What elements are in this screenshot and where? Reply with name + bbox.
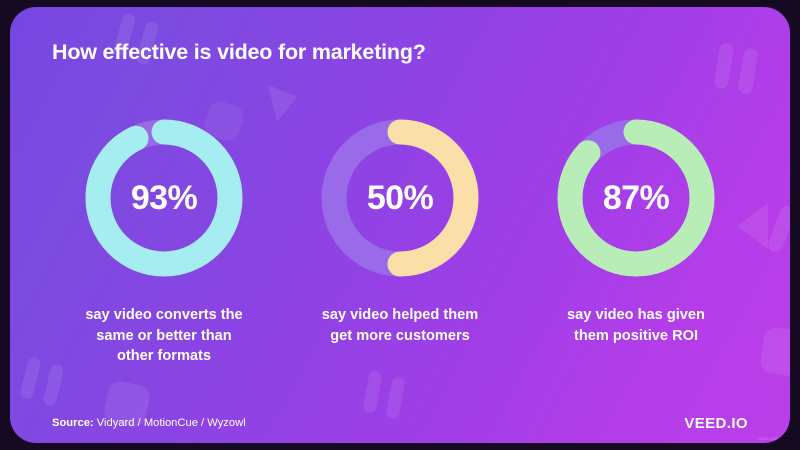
caption-line: them positive ROI <box>567 326 705 347</box>
donut-chart-more-customers: 50% <box>317 115 483 281</box>
stats-row: 93% say video converts the same or bette… <box>20 115 780 367</box>
stat-caption: say video helped them get more customers <box>322 305 479 346</box>
stat-caption: say video has given them positive ROI <box>567 305 705 346</box>
caption-line: say video has given <box>567 305 705 326</box>
source-value: Vidyard / MotionCue / Wyzowl <box>97 417 246 429</box>
donut-chart-converts-same-or-better: 93% <box>81 115 247 281</box>
source-attribution: Source: Vidyard / MotionCue / Wyzowl <box>52 417 246 429</box>
stat-card-more-customers: 50% say video helped them get more custo… <box>284 115 516 367</box>
pause-bar-icon <box>737 47 758 95</box>
caption-line: say video converts the <box>85 305 242 326</box>
pause-bar-icon <box>362 370 382 414</box>
donut-value-label: 87% <box>553 115 719 281</box>
infographic-root: How effective is video for marketing? 93… <box>0 0 800 450</box>
gradient-card: How effective is video for marketing? 93… <box>10 7 790 443</box>
caption-line: same or better than <box>85 326 242 347</box>
donut-chart-positive-roi: 87% <box>553 115 719 281</box>
donut-value-label: 50% <box>317 115 483 281</box>
pause-bar-icon <box>713 42 734 90</box>
stat-card-converts-same-or-better: 93% say video converts the same or bette… <box>48 115 280 367</box>
pause-bar-icon <box>42 363 65 407</box>
caption-line: say video helped them <box>322 305 479 326</box>
caption-line: get more customers <box>322 326 479 347</box>
source-label: Source: <box>52 417 94 429</box>
stat-card-positive-roi: 87% say video has given them positive RO… <box>520 115 752 367</box>
stat-caption: say video converts the same or better th… <box>85 305 242 367</box>
donut-value-label: 93% <box>81 115 247 281</box>
pause-bar-icon <box>385 376 405 420</box>
watermark: veed.com <box>757 436 778 441</box>
veed-logo: VEED.IO <box>684 415 748 432</box>
page-title: How effective is video for marketing? <box>52 40 426 65</box>
caption-line: other formats <box>85 346 242 367</box>
